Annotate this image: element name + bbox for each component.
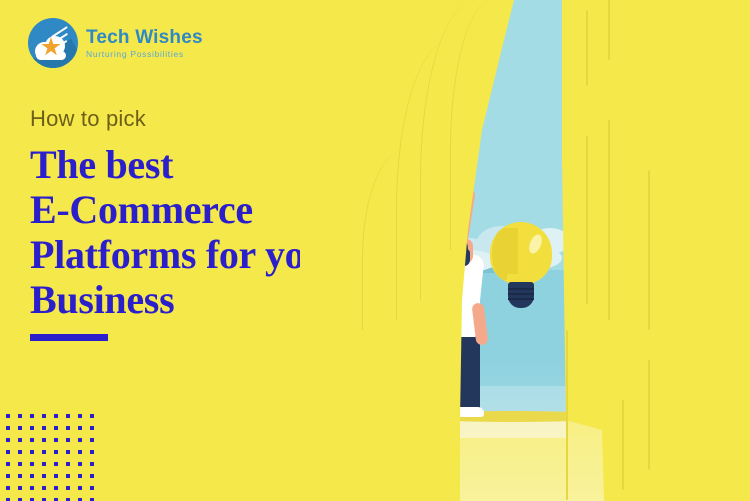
decorative-dot: [42, 438, 46, 442]
decorative-dot: [78, 438, 82, 442]
brand-tagline: Nurturing Possibilities: [86, 50, 203, 59]
decorative-dot: [90, 438, 94, 442]
curtain-fold: [608, 0, 610, 60]
curtain-fold: [586, 136, 588, 304]
decorative-dot: [18, 474, 22, 478]
decorative-dot: [18, 426, 22, 430]
decorative-dot: [30, 438, 34, 442]
decorative-dot: [90, 462, 94, 466]
decorative-dot: [18, 462, 22, 466]
decorative-dot: [66, 462, 70, 466]
decorative-dot: [90, 414, 94, 418]
dot-grid-bottom-left: [6, 414, 94, 501]
decorative-dot: [30, 426, 34, 430]
decorative-dot: [6, 474, 10, 478]
decorative-dot: [54, 474, 58, 478]
decorative-dot: [54, 438, 58, 442]
decorative-dot: [54, 462, 58, 466]
decorative-dot: [30, 414, 34, 418]
decorative-dot: [90, 474, 94, 478]
decorative-dot: [18, 414, 22, 418]
decorative-dot: [6, 450, 10, 454]
decorative-dot: [42, 474, 46, 478]
decorative-dot: [78, 486, 82, 490]
decorative-dot: [6, 462, 10, 466]
decorative-dot: [78, 414, 82, 418]
decorative-dot: [78, 426, 82, 430]
brand-name: Tech Wishes: [86, 28, 203, 47]
curtain-fold: [622, 400, 624, 490]
decorative-dot: [42, 414, 46, 418]
decorative-dot: [30, 450, 34, 454]
decorative-dot: [6, 426, 10, 430]
decorative-dot: [90, 486, 94, 490]
decorative-dot: [78, 474, 82, 478]
decorative-dot: [6, 486, 10, 490]
decorative-dot: [66, 474, 70, 478]
decorative-dot: [30, 486, 34, 490]
decorative-dot: [42, 450, 46, 454]
decorative-dot: [90, 450, 94, 454]
curtain-right: [562, 0, 750, 501]
decorative-dot: [66, 426, 70, 430]
curtain-fold: [586, 10, 588, 86]
decorative-dot: [30, 474, 34, 478]
headline-underline: [30, 334, 108, 341]
decorative-dot: [78, 450, 82, 454]
decorative-dot: [66, 414, 70, 418]
decorative-dot: [6, 414, 10, 418]
decorative-dot: [66, 438, 70, 442]
hero-illustration: [300, 0, 750, 501]
promo-banner: Tech Wishes Nurturing Possibilities How …: [0, 0, 750, 501]
decorative-dot: [6, 438, 10, 442]
decorative-dot: [42, 486, 46, 490]
decorative-dot: [42, 462, 46, 466]
decorative-dot: [54, 486, 58, 490]
decorative-dot: [78, 462, 82, 466]
decorative-dot: [18, 450, 22, 454]
curtain-fold: [648, 360, 650, 470]
decorative-dot: [54, 450, 58, 454]
brand-logo[interactable]: Tech Wishes Nurturing Possibilities: [28, 18, 203, 68]
decorative-dot: [66, 450, 70, 454]
curtain-fold: [566, 330, 568, 500]
curtain-fold: [648, 170, 650, 330]
decorative-dot: [30, 462, 34, 466]
decorative-dot: [54, 426, 58, 430]
decorative-dot: [42, 426, 46, 430]
decorative-dot: [18, 438, 22, 442]
cloud-star-logo-icon: [28, 18, 78, 68]
curtain-fold: [608, 120, 610, 320]
decorative-dot: [18, 486, 22, 490]
decorative-dot: [66, 486, 70, 490]
decorative-dot: [90, 426, 94, 430]
decorative-dot: [54, 414, 58, 418]
